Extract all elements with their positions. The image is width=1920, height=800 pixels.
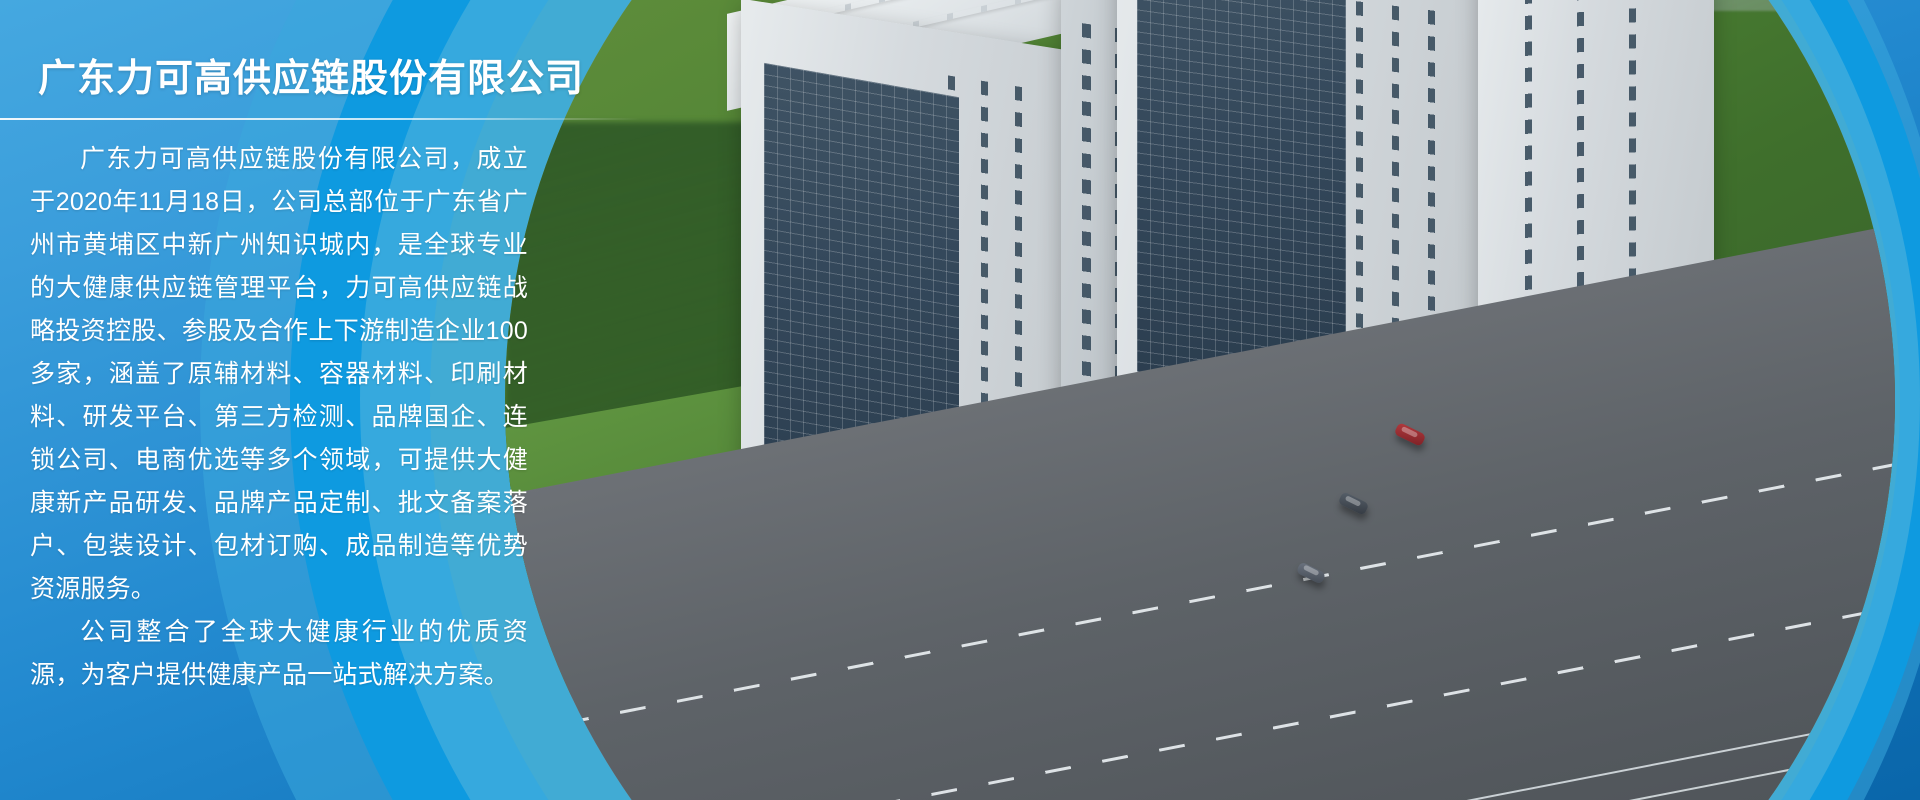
window-column xyxy=(1082,24,1091,390)
paragraph-2: 公司整合了全球大健康行业的优质资源，为客户提供健康产品一站式解决方案。 xyxy=(30,611,528,697)
lane-marking xyxy=(589,584,1895,800)
road-edge-line xyxy=(578,684,1895,800)
lane-marking xyxy=(563,446,1895,724)
facility-photo xyxy=(505,0,1895,800)
company-profile-banner: 广东力可高供应链股份有限公司 广东力可高供应链股份有限公司，成立于2020年11… xyxy=(0,0,1920,800)
company-description: 广东力可高供应链股份有限公司，成立于2020年11月18日，公司总部位于广东省广… xyxy=(0,120,528,697)
page-title: 广东力可高供应链股份有限公司 xyxy=(0,0,640,104)
facility-photo-disc xyxy=(505,0,1895,800)
road-edge-line xyxy=(584,715,1895,800)
paragraph-1: 广东力可高供应链股份有限公司，成立于2020年11月18日，公司总部位于广东省广… xyxy=(30,138,528,611)
text-column: 广东力可高供应链股份有限公司 广东力可高供应链股份有限公司，成立于2020年11… xyxy=(0,0,640,800)
